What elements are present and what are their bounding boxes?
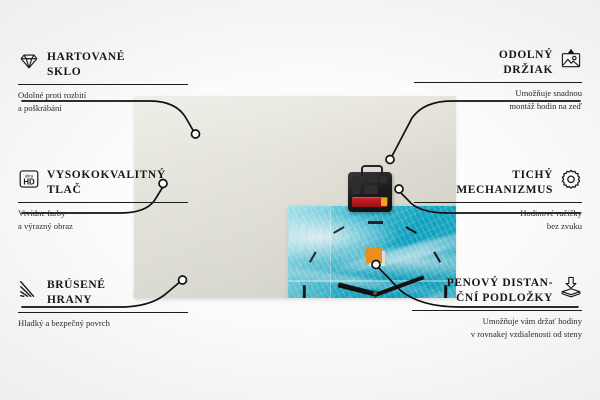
arrow-onto-pad-icon [560, 276, 582, 298]
connector-endpoint-mechanism [395, 185, 403, 193]
connector-endpoint-foam [372, 261, 380, 269]
feature-divider [414, 202, 582, 203]
feature-divider [18, 84, 188, 85]
feature-title-line2: HRANY [47, 293, 106, 308]
feature-divider [414, 82, 582, 83]
picture-frame-hanger-icon [560, 48, 582, 70]
feature-desc-line1: Hladký a bezpečný povrch [18, 317, 188, 329]
feature-desc-line1: Hodinové ručičky [414, 207, 582, 219]
feature-title-line2: ČNÍ PODLOŽKY [447, 291, 553, 306]
feature-desc-line2: a poškrábání [18, 102, 188, 114]
feature-durable-holder: ODOLNÝ DRŽIAK Umožňuje snadnou montáž ho… [414, 48, 582, 112]
feature-title-line2: DRŽIAK [499, 63, 553, 78]
ultra-hd-icon: ultra HD [18, 168, 40, 190]
feature-title-line2: SKLO [47, 65, 125, 80]
feature-desc-line1: Umožňuje vám držať hodiny [412, 315, 582, 327]
feature-foam-spacers: PENOVÝ DISTAN- ČNÍ PODLOŽKY Umožňuje vám… [412, 276, 582, 340]
feature-title-line2: TLAČ [47, 183, 166, 198]
diamond-icon [18, 50, 40, 72]
feature-desc-line1: Odolné proti rozbití [18, 89, 188, 101]
feature-title-line1: ODOLNÝ [499, 48, 553, 63]
feature-desc-line2: bez zvuku [414, 220, 582, 232]
feature-title-line1: TICHÝ [456, 168, 553, 183]
feature-title-line1: VYSOKOKVALITNÝ [47, 168, 166, 183]
feature-divider [18, 312, 188, 313]
feature-polished-edges: BRÚSENÉ HRANY Hladký a bezpečný povrch [18, 278, 188, 330]
feature-desc-line2: v rovnakej vzdialenosti od steny [412, 328, 582, 340]
feature-high-quality-print: ultra HD VYSOKOKVALITNÝ TLAČ Vivídne far… [18, 168, 188, 232]
feature-title-line1: PENOVÝ DISTAN- [447, 276, 553, 291]
feature-tempered-glass: HARTOVANÉ SKLO Odolné proti rozbití a po… [18, 50, 188, 114]
gear-icon [560, 168, 582, 190]
product-infographic: HARTOVANÉ SKLO Odolné proti rozbití a po… [0, 0, 600, 400]
feature-desc-line2: a výrazný obraz [18, 220, 188, 232]
ultra-hd-big-label: HD [23, 178, 35, 187]
feature-title-line2: MECHANIZMUS [456, 183, 553, 198]
feature-divider [18, 202, 188, 203]
connector-endpoint-holder [386, 156, 394, 164]
feature-desc-line1: Umožňuje snadnou [414, 87, 582, 99]
feature-desc-line1: Vivídne farby [18, 207, 188, 219]
feature-title-line1: BRÚSENÉ [47, 278, 106, 293]
diagonal-lines-icon [18, 278, 40, 300]
feature-desc-line2: montáž hodin na zeď [414, 100, 582, 112]
connector-endpoint-tempered-glass [192, 130, 200, 138]
feature-silent-mechanism: TICHÝ MECHANIZMUS Hodinové ručičky bez z… [414, 168, 582, 232]
feature-divider [412, 310, 582, 311]
feature-title-line1: HARTOVANÉ [47, 50, 125, 65]
